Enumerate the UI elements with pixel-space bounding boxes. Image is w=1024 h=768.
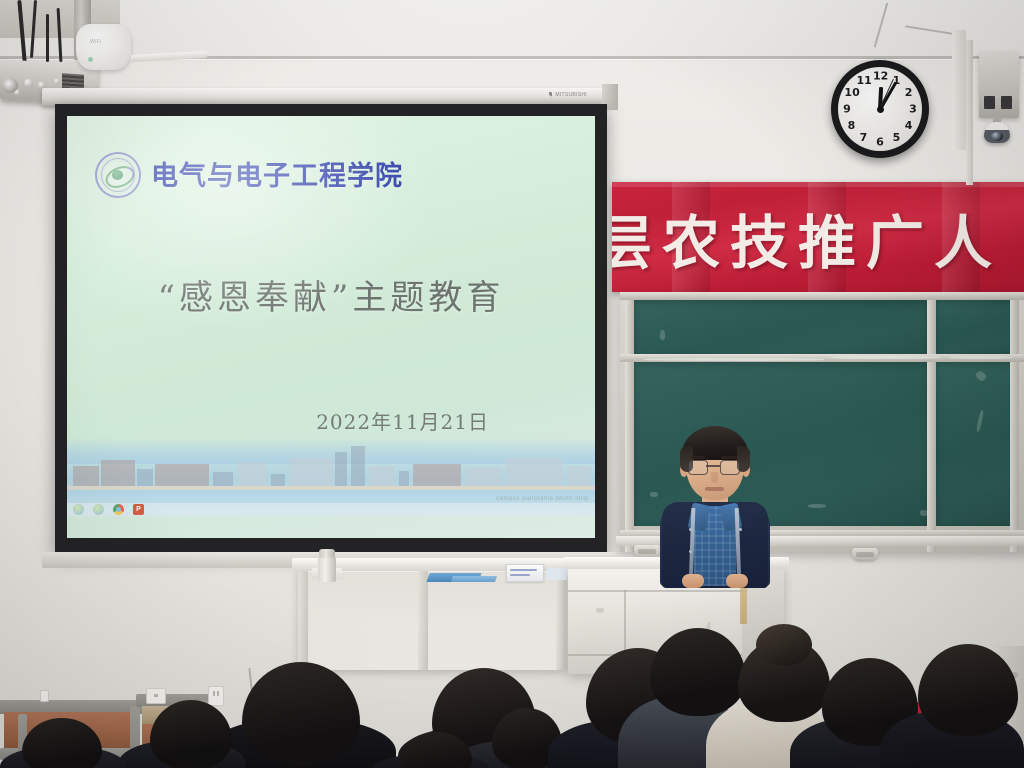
skyline-building	[155, 464, 209, 486]
skyline-building	[271, 474, 285, 486]
wall-hook	[852, 548, 878, 561]
projector-cable	[46, 14, 49, 62]
clock-numeral: 7	[857, 131, 871, 144]
student-head	[150, 700, 232, 768]
presenter	[660, 424, 770, 584]
blackboard-frame-top	[620, 292, 1024, 300]
lecture-hall-photo: WiFi MITSUBISHI 电气与电子工程学院 “感恩奉献”主题教育 202…	[0, 0, 1024, 768]
powerpoint-icon[interactable]: P	[133, 504, 144, 515]
windows-taskbar[interactable]: P	[67, 503, 595, 516]
skyline-building	[73, 466, 99, 486]
red-event-banner: 层农技推广人	[612, 182, 1024, 292]
skyline-building	[213, 472, 233, 486]
blackboard-frame-right	[1010, 292, 1019, 552]
sign-text-line	[510, 574, 530, 576]
lectern-seam	[568, 590, 742, 592]
chalk-smudge	[660, 330, 665, 340]
clock-face: 12 1 2 3 4 5 6 7 8 9 10 11 ·	[838, 67, 922, 151]
clock-numeral: 6	[873, 136, 887, 149]
skyline-building	[351, 446, 365, 486]
eyeglasses-icon	[688, 460, 708, 475]
presenter-hand	[682, 574, 704, 588]
wall-upper-band	[0, 0, 1024, 62]
wall-mounted-av-unit	[979, 52, 1019, 118]
presenter-hand	[726, 574, 748, 588]
wall-duct	[952, 30, 966, 150]
jacket-button	[689, 528, 692, 531]
skyline-building	[137, 469, 153, 486]
clock-numeral: 5	[890, 131, 904, 144]
dome-security-camera	[984, 122, 1010, 143]
blackboard-panel-top	[634, 300, 928, 356]
slide-title: “感恩奉献”主题教育	[67, 270, 595, 319]
chrome-icon[interactable]	[113, 504, 124, 515]
presenter-eyebrow	[721, 456, 737, 459]
skyline-building	[413, 464, 461, 486]
sign-text-line	[510, 569, 537, 571]
clock-numeral: 10	[844, 86, 858, 99]
chalk-smudge	[650, 492, 658, 497]
skyline-building	[567, 466, 591, 486]
name-card-sign	[506, 564, 544, 582]
presenter-mouth	[705, 487, 724, 491]
blue-folder	[451, 576, 497, 582]
eyeglasses-bridge	[706, 465, 720, 467]
clock-numeral: 2	[902, 86, 916, 99]
skyline-building	[289, 458, 333, 486]
projector-knob	[24, 79, 33, 88]
av-unit-port	[984, 96, 995, 109]
screen-brand-label: MITSUBISHI	[546, 92, 587, 98]
jacket-button	[739, 528, 742, 531]
paper-sheet	[545, 568, 570, 580]
skyline-building	[335, 452, 347, 486]
av-unit-port	[1001, 96, 1012, 109]
skyline-building	[505, 458, 563, 486]
wifi-ap-brand-label: WiFi	[90, 39, 102, 45]
skyline-building	[465, 467, 501, 486]
clock-center-hub	[877, 106, 884, 113]
slide-institution-heading: 电气与电子工程学院	[151, 154, 403, 193]
clock-numeral: 11	[857, 74, 871, 87]
seated-students	[0, 600, 1024, 768]
wall-post	[966, 40, 973, 185]
student-head	[918, 644, 1018, 736]
slide-watermark: campus panorama photo strip	[496, 496, 589, 502]
skyline-building	[101, 460, 135, 486]
slide-date: 2022年11月21日	[67, 406, 595, 435]
chalk-mark	[644, 358, 824, 361]
chalk-mark	[950, 356, 1012, 359]
skyline-building	[237, 462, 267, 486]
skyline-building	[369, 466, 395, 486]
blackboard-frame-mid	[927, 292, 936, 552]
presenter-nose	[711, 472, 718, 483]
thermos-cap	[319, 549, 335, 558]
wall-clock: 12 1 2 3 4 5 6 7 8 9 10 11 ·	[831, 60, 929, 158]
clock-numeral: 9	[840, 103, 854, 116]
clock-numeral: 3	[906, 103, 920, 116]
clock-numeral: 12	[873, 70, 887, 83]
projector-lens	[2, 78, 18, 93]
clock-brand-label: ·	[879, 119, 881, 125]
blackboard-frame-left	[625, 292, 634, 552]
campus-skyline-strip: campus panorama photo strip P	[67, 438, 595, 516]
taskbar-app-icon[interactable]	[73, 504, 84, 515]
clock-numeral: 8	[844, 119, 858, 132]
chalk-smudge	[920, 510, 928, 516]
mitsubishi-logo-icon	[546, 92, 552, 98]
university-emblem-icon	[95, 152, 141, 198]
banner-text: 层农技推广人	[612, 196, 1024, 280]
student-head	[650, 628, 746, 716]
chalk-smudge	[808, 504, 826, 508]
thermos-cup	[318, 556, 336, 582]
presenter-eyebrow	[689, 456, 705, 459]
student-head	[242, 662, 360, 766]
projection-screen: 电气与电子工程学院 “感恩奉献”主题教育 2022年11月21日	[55, 104, 607, 552]
slide-surface: 电气与电子工程学院 “感恩奉献”主题教育 2022年11月21日	[67, 116, 595, 538]
wifi-status-led-icon	[88, 57, 93, 62]
student-head	[22, 718, 102, 768]
wireless-access-point: WiFi	[76, 24, 131, 70]
eyeglasses-icon	[720, 460, 740, 475]
skyline-building	[399, 471, 409, 486]
jacket-button	[689, 550, 692, 553]
blackboard-panel-right	[936, 300, 1016, 356]
projector-knob	[54, 78, 60, 84]
hair-bun	[756, 624, 812, 666]
blackboard-panel-right	[936, 362, 1016, 526]
clock-numeral: 4	[902, 119, 916, 132]
camera-lens-icon	[991, 132, 1003, 141]
taskbar-app-icon[interactable]	[93, 504, 104, 515]
